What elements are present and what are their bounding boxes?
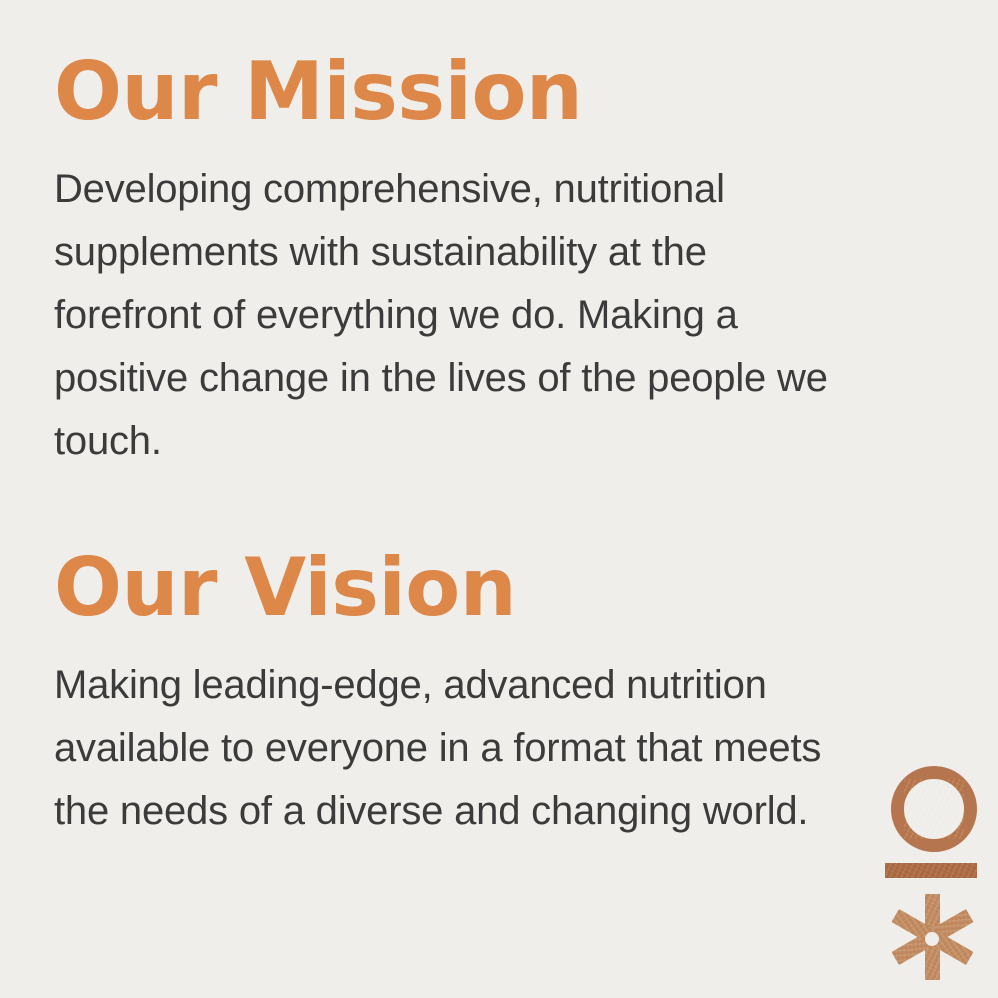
ring-texture: [904, 779, 964, 839]
mission-body: Developing comprehensive, nutritional su…: [54, 158, 954, 473]
mission-body-line: forefront of everything we do. Making a: [54, 284, 954, 347]
bar-icon: [885, 863, 977, 878]
mission-body-line: positive change in the lives of the peop…: [54, 347, 954, 410]
brand-logo: [880, 762, 984, 984]
mission-body-line: supplements with sustainability at the: [54, 221, 954, 284]
vision-section: Our Vision Making leading-edge, advanced…: [54, 548, 954, 843]
bar-texture: [885, 863, 977, 878]
vision-body-line: Making leading-edge, advanced nutrition: [54, 654, 954, 717]
mission-section: Our Mission Developing comprehensive, nu…: [54, 52, 954, 473]
asterisk-center-hole: [925, 932, 939, 946]
vision-heading: Our Vision: [54, 548, 954, 628]
mission-body-line: touch.: [54, 410, 954, 473]
vision-body-line: available to everyone in a format that m…: [54, 717, 954, 780]
page-root: Our Mission Developing comprehensive, nu…: [0, 0, 998, 998]
mission-body-line: Developing comprehensive, nutritional: [54, 158, 954, 221]
vision-body: Making leading-edge, advanced nutrition …: [54, 654, 954, 843]
mission-heading: Our Mission: [54, 52, 954, 132]
asterisk-icon: [880, 890, 984, 984]
vision-body-line: the needs of a diverse and changing worl…: [54, 780, 954, 843]
ring-icon: [891, 766, 977, 852]
